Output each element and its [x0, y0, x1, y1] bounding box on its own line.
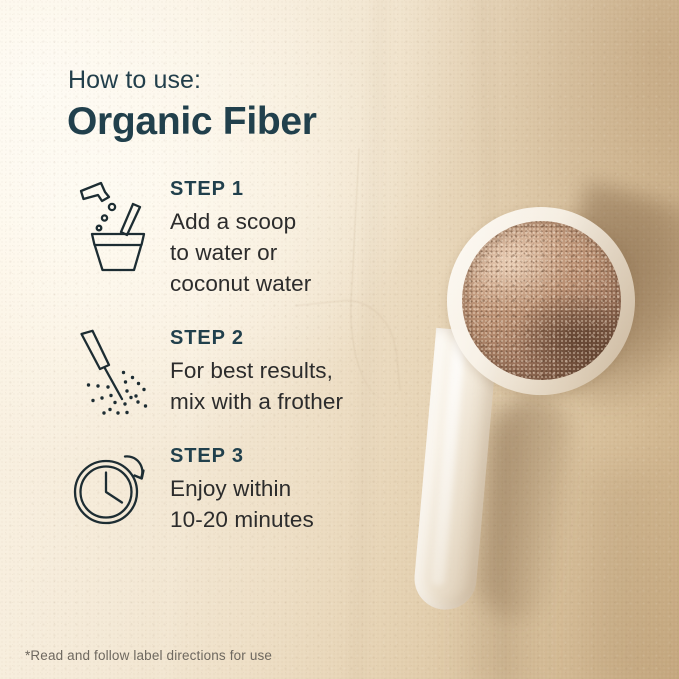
step-text-1: Add a scoop to water or coconut water	[170, 206, 311, 299]
clock-with-arrow-icon	[60, 443, 170, 527]
step-body-2: STEP 2 For best results, mix with a frot…	[170, 325, 343, 417]
step-label-2: STEP 2	[170, 327, 343, 350]
step-item-2: STEP 2 For best results, mix with a frot…	[60, 325, 410, 417]
step-text-2: For best results, mix with a frother	[170, 355, 343, 417]
scoop-powder	[462, 221, 621, 380]
page-title: Organic Fiber	[67, 100, 317, 144]
step-label-1: STEP 1	[170, 178, 311, 201]
steps-list: STEP 1 Add a scoop to water or coconut w…	[60, 176, 410, 561]
step-item-3: STEP 3 Enjoy within 10-20 minutes	[60, 443, 410, 535]
step-text-3: Enjoy within 10-20 minutes	[170, 473, 314, 535]
powder-grain-coarse	[462, 221, 621, 380]
step-body-1: STEP 1 Add a scoop to water or coconut w…	[170, 176, 311, 299]
kicker-text: How to use:	[68, 66, 201, 95]
step-item-1: STEP 1 Add a scoop to water or coconut w…	[60, 176, 410, 299]
step-label-3: STEP 3	[170, 445, 314, 468]
footnote-disclaimer: *Read and follow label directions for us…	[25, 648, 272, 663]
step-body-3: STEP 3 Enjoy within 10-20 minutes	[170, 443, 314, 535]
product-instruction-graphic: How to use: Organic Fiber	[0, 0, 679, 679]
scoop-pouring-into-glass-icon	[60, 176, 170, 272]
wall-shadow-band-right	[560, 470, 679, 679]
frother-wand-icon	[60, 325, 170, 415]
